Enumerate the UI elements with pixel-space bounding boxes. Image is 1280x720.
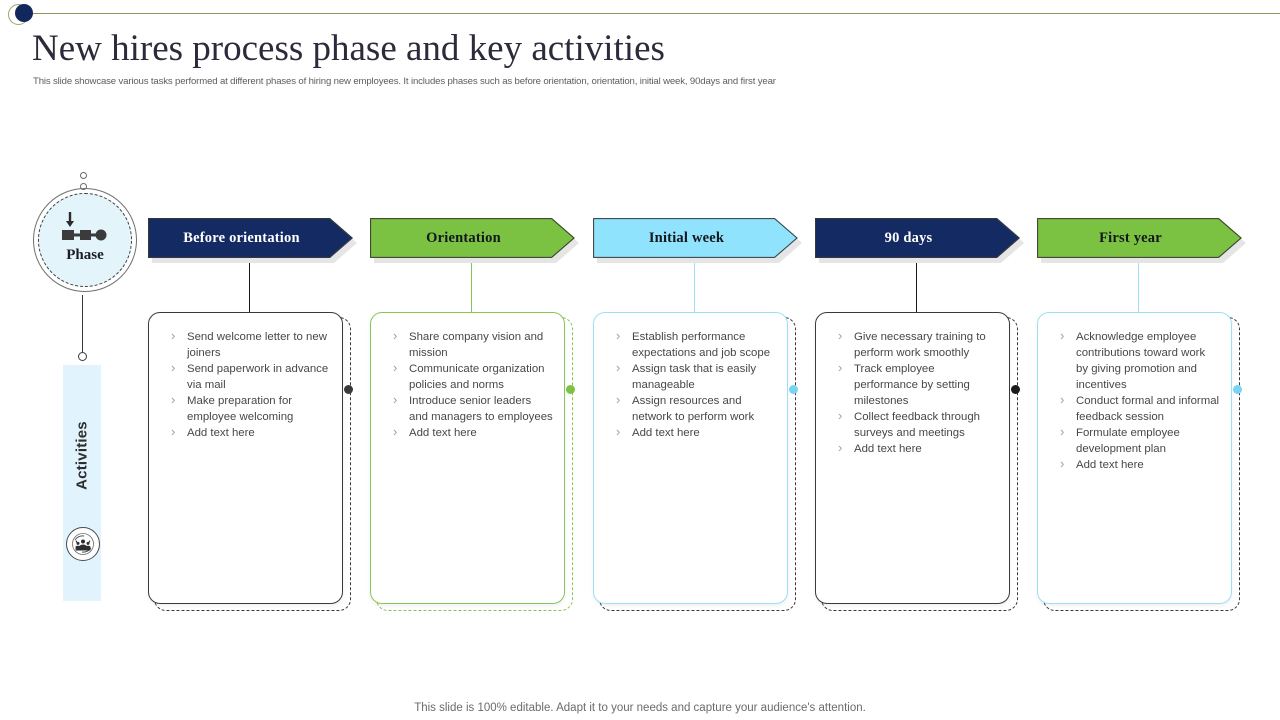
list-item: Add text here [1054,457,1220,473]
phase-to-activities-connector [82,295,83,353]
arrow-to-card-stem [694,263,695,312]
arrow-outline [370,218,575,258]
card-connector-dot [566,385,575,394]
list-item: Track employee performance by setting mi… [832,361,998,409]
activities-rail: Activities [63,365,101,601]
list-item: Collect feedback through surveys and mee… [832,409,998,441]
activity-list: Acknowledge employee contributions towar… [1054,329,1220,473]
phase-arrow-banner[interactable]: Initial week [593,218,798,263]
list-item: Acknowledge employee contributions towar… [1054,329,1220,393]
list-item: Add text here [832,441,998,457]
phase-column-first-year: First year Acknowledge employee contribu… [1037,218,1242,263]
arrow-outline [815,218,1020,258]
list-item: Add text here [387,425,553,441]
list-item: Assign resources and network to perform … [610,393,776,425]
arrow-outline [593,218,798,258]
list-item: Establish performance expectations and j… [610,329,776,361]
process-flow-icon [57,210,115,251]
phase-badge: Phase [30,185,140,295]
phase-arrow-banner[interactable]: 90 days [815,218,1020,263]
activity-list: Establish performance expectations and j… [610,329,776,441]
brand-dot-icon [15,4,33,22]
list-item: Share company vision and mission [387,329,553,361]
list-item: Add text here [165,425,331,441]
phase-bubble-small-icon [80,172,87,179]
phase-column-initial-week: Initial week Establish performance expec… [593,218,798,263]
page-subtitle: This slide showcase various tasks perfor… [33,76,776,87]
card-connector-dot [1233,385,1242,394]
phase-column-orientation: Orientation Share company vision and mis… [370,218,575,263]
card-connector-dot [344,385,353,394]
activity-card[interactable]: Share company vision and mission Communi… [370,312,565,604]
list-item: Assign task that is easily manageable [610,361,776,393]
activity-list: Send welcome letter to new joiners Send … [165,329,331,441]
arrow-to-card-stem [249,263,250,312]
list-item: Communicate organization policies and no… [387,361,553,393]
arrow-outline [1037,218,1242,258]
list-item: Conduct formal and informal feedback ses… [1054,393,1220,425]
phase-column-before-orientation: Before orientation Send welcome letter t… [148,218,353,263]
phase-column-90-days: 90 days Give necessary training to perfo… [815,218,1020,263]
arrow-to-card-stem [471,263,472,312]
phase-connector-endpoint [78,352,87,361]
list-item: Add text here [610,425,776,441]
arrow-outline [148,218,353,258]
list-item: Give necessary training to perform work … [832,329,998,361]
phase-arrow-banner[interactable]: Orientation [370,218,575,263]
top-decoration-bar [0,0,1280,30]
list-item: Introduce senior leaders and managers to… [387,393,553,425]
activity-card[interactable]: Send welcome letter to new joiners Send … [148,312,343,604]
team-people-icon [66,527,100,561]
footer-note: This slide is 100% editable. Adapt it to… [0,702,1280,714]
activity-card[interactable]: Give necessary training to perform work … [815,312,1010,604]
phase-badge-label: Phase [30,247,140,264]
activity-card[interactable]: Acknowledge employee contributions towar… [1037,312,1232,604]
list-item: Send paperwork in advance via mail [165,361,331,393]
list-item: Formulate employee development plan [1054,425,1220,457]
activities-rail-label: Activities [74,371,91,541]
page-title: New hires process phase and key activiti… [32,27,665,70]
activity-card[interactable]: Establish performance expectations and j… [593,312,788,604]
phase-arrow-banner[interactable]: Before orientation [148,218,353,263]
arrow-to-card-stem [1138,263,1139,312]
activity-list: Give necessary training to perform work … [832,329,998,457]
arrow-to-card-stem [916,263,917,312]
decorative-rule [30,13,1280,14]
card-connector-dot [789,385,798,394]
list-item: Send welcome letter to new joiners [165,329,331,361]
activity-list: Share company vision and mission Communi… [387,329,553,441]
card-connector-dot [1011,385,1020,394]
list-item: Make preparation for employee welcoming [165,393,331,425]
phase-arrow-banner[interactable]: First year [1037,218,1242,263]
